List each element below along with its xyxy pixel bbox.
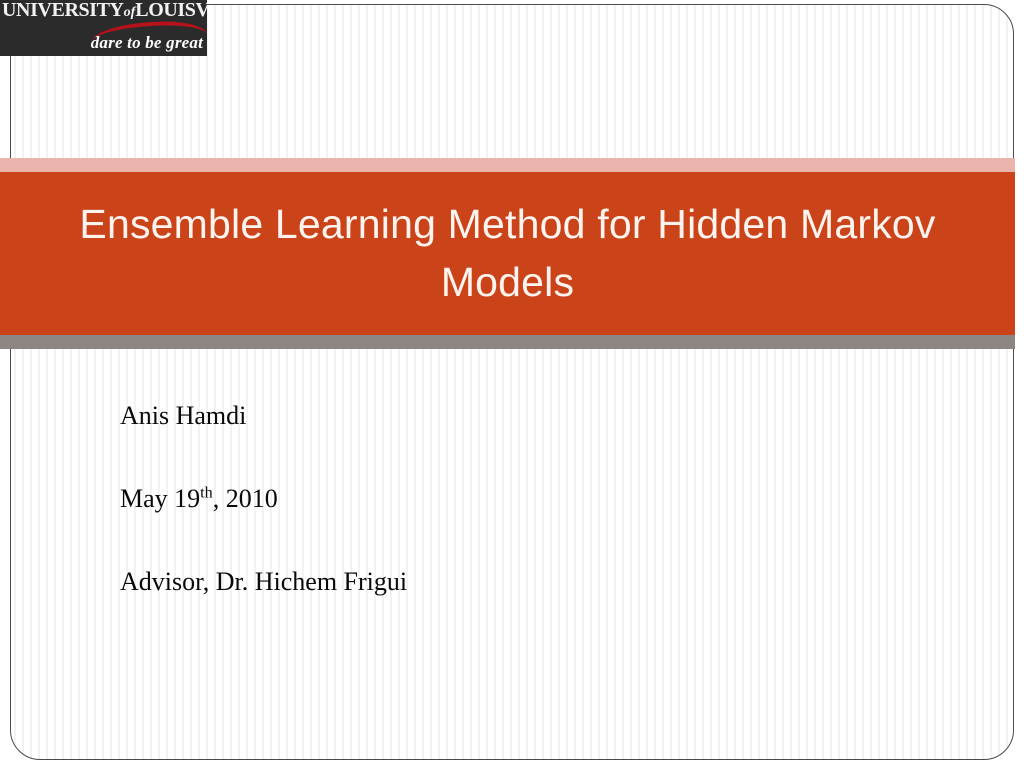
date-line: May 19th, 2010 [120,481,820,564]
slide-body: Anis Hamdi May 19th, 2010 Advisor, Dr. H… [120,398,820,647]
date-year: , 2010 [213,484,278,513]
slide-edge-mask-right [1014,0,1024,768]
date-month-day: May 19 [120,484,200,513]
wordmark-university: UNIVERSITY [2,0,124,21]
university-wordmark: UNIVERSITYofLOUISVILLE [2,0,207,24]
university-tagline: dare to be great [91,33,203,53]
wordmark-louisville: LOUISVILLE [135,0,207,21]
title-banner: Ensemble Learning Method for Hidden Mark… [0,158,1015,349]
university-logo: UNIVERSITYofLOUISVILLE dare to be great [0,0,207,56]
date-ordinal-suffix: th [200,484,213,501]
slide-edge-mask-left [0,0,10,768]
advisor-line: Advisor, Dr. Hichem Frigui [120,564,820,647]
slide-edge-mask-bottom [0,764,1024,768]
banner-accent-top [0,158,1015,172]
banner-accent-bottom [0,335,1015,349]
banner-body: Ensemble Learning Method for Hidden Mark… [0,172,1015,335]
slide-title: Ensemble Learning Method for Hidden Mark… [78,195,938,313]
author-line: Anis Hamdi [120,398,820,481]
presentation-slide: UNIVERSITYofLOUISVILLE dare to be great … [0,0,1024,768]
wordmark-of: of [124,5,136,20]
